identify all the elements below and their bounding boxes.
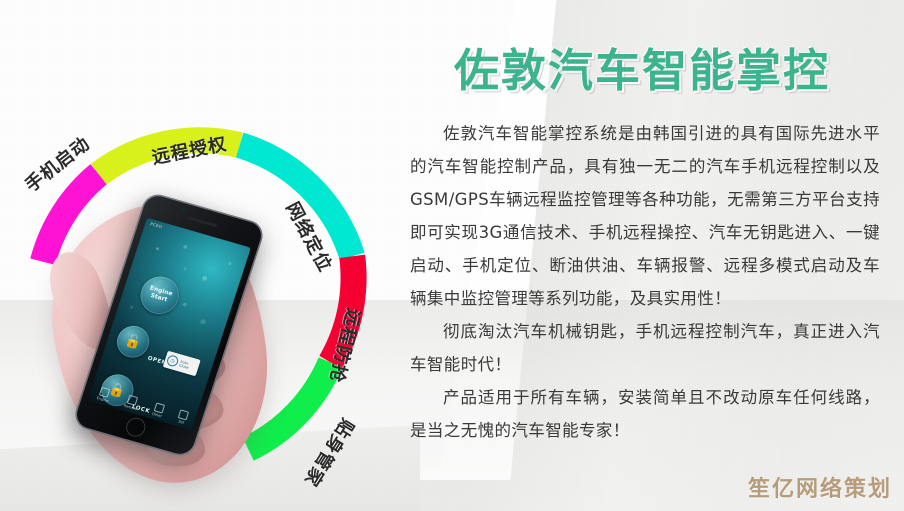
content-column: 佐敦汽车智能掌控 佐敦汽车智能掌控系统是由韩国引进的具有国际先进水平的汽车智能控… [410, 34, 880, 447]
clock-icon: ◷ [166, 354, 180, 367]
hand-holding-phone: PCEO EngineStart 🔓 OPEN 🔒 LOCK ◷ Auto Cl… [55, 196, 325, 496]
description-paragraph-3: 产品适用于所有车辆，安装简单且不改动原车任何线路，是当之无愧的汽车智能专家！ [410, 381, 880, 447]
tab-other[interactable]: Other [151, 402, 165, 418]
page-title: 佐敦汽车智能掌控 [410, 34, 880, 99]
tab-set[interactable]: Set [176, 409, 189, 425]
auto-close-label: Auto Close [179, 359, 200, 372]
description-paragraph-1: 佐敦汽车智能掌控系统是由韩国引进的具有国际先进水平的汽车智能控制产品，具有独一无… [410, 117, 880, 315]
earpiece-speaker [188, 216, 218, 227]
home-button[interactable] [124, 416, 148, 439]
watermark: 笙亿网络策划 [748, 471, 892, 503]
poster-canvas: 手机启动 远程授权 网络定位 远程防抢 贴身管家 PCEO EngineStar… [0, 0, 904, 511]
unlock-icon: 🔓 [123, 332, 143, 351]
tab-engine[interactable]: Engine [96, 386, 112, 403]
engine-start-label: EngineStart [147, 286, 173, 305]
front-camera-icon [181, 207, 186, 212]
description-paragraph-2: 彻底淘汰汽车机械钥匙，手机远程控制汽车，真正进入汽车智能时代！ [410, 315, 880, 381]
